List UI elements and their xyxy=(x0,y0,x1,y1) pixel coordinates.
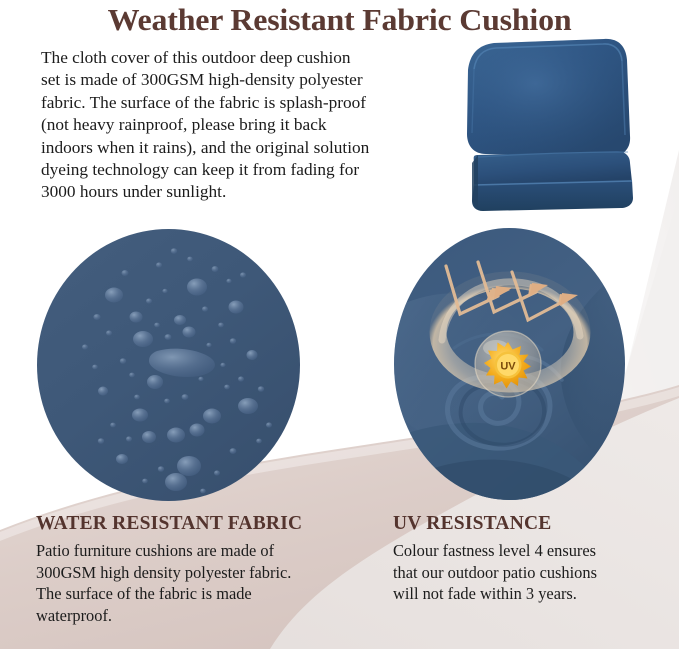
feature-water-resistant: WATER RESISTANT FABRIC Patio furniture c… xyxy=(36,513,366,626)
feature-water-heading: WATER RESISTANT FABRIC xyxy=(36,513,366,535)
feature-uv-body: Colour fastness level 4 ensures that our… xyxy=(393,540,663,605)
water-resistant-circle-image xyxy=(37,229,300,501)
feature-uv-resistance: UV RESISTANCE Colour fastness level 4 en… xyxy=(393,513,663,605)
cushion-illustration xyxy=(456,32,640,214)
intro-paragraph: The cloth cover of this outdoor deep cus… xyxy=(41,47,451,204)
product-infographic: Weather Resistant Fabric Cushion The clo… xyxy=(0,0,679,649)
uv-resistance-circle-image: UV xyxy=(394,228,625,500)
hero-cushion-image xyxy=(456,32,640,214)
uv-protection-illustration: UV xyxy=(394,228,625,500)
feature-uv-heading: UV RESISTANCE xyxy=(393,513,663,535)
uv-badge-label: UV xyxy=(500,360,516,372)
feature-water-body: Patio furniture cushions are made of 300… xyxy=(36,540,366,626)
water-droplets-illustration xyxy=(37,229,300,501)
